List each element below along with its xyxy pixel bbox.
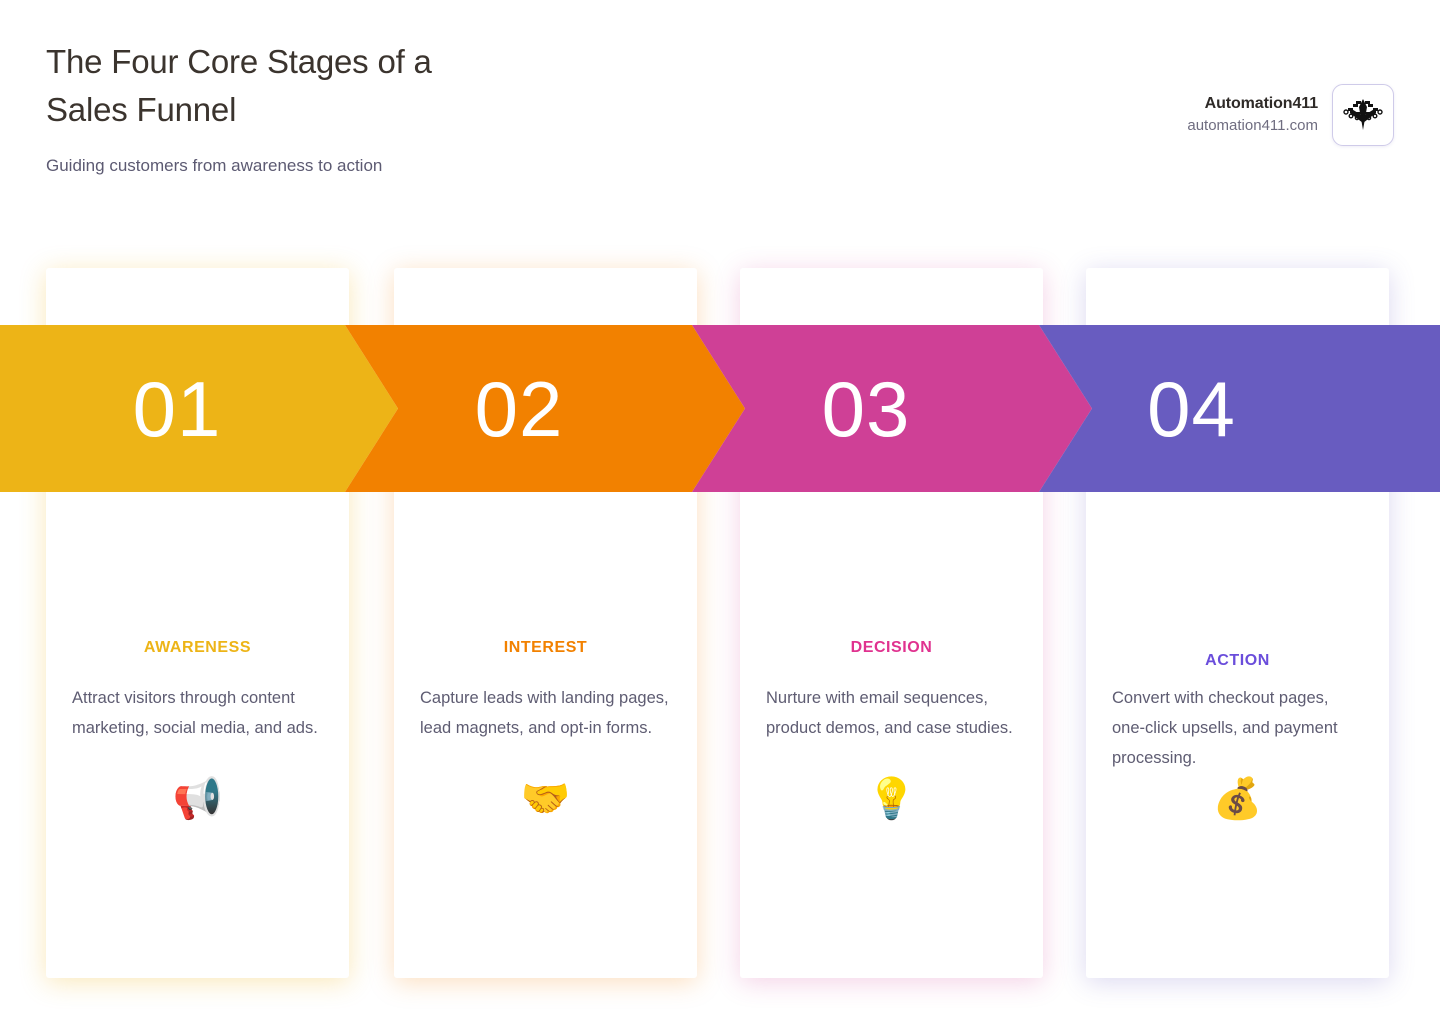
stage-number-02: 02 bbox=[475, 370, 564, 448]
money-bag-icon: 💰 bbox=[1086, 773, 1389, 825]
ribbon-segment-04[interactable]: 04 bbox=[1039, 325, 1440, 492]
ribbon-segment-02[interactable]: 02 bbox=[345, 325, 745, 492]
ribbon-segment-03[interactable]: 03 bbox=[692, 325, 1092, 492]
stage-number-03: 03 bbox=[822, 370, 911, 448]
stage-description-action: Convert with checkout pages, one-click u… bbox=[1112, 683, 1364, 773]
handshake-icon: 🤝 bbox=[394, 773, 697, 825]
stage-number-04: 04 bbox=[1147, 370, 1236, 448]
ribbon-segment-01[interactable]: 01 bbox=[0, 325, 398, 492]
stage-cards: 📢 AWARENESS Attract visitors through con… bbox=[0, 0, 1440, 1024]
loudspeaker-icon: 📢 bbox=[46, 773, 349, 825]
stage-description-awareness: Attract visitors through content marketi… bbox=[72, 683, 324, 743]
lightbulb-icon: 💡 bbox=[740, 773, 1043, 825]
stage-label-interest: INTEREST bbox=[394, 639, 697, 657]
stage-label-awareness: AWARENESS bbox=[46, 639, 349, 657]
stage-label-decision: DECISION bbox=[740, 639, 1043, 657]
stage-number-01: 01 bbox=[133, 370, 222, 448]
stage-label-action: ACTION bbox=[1086, 652, 1389, 670]
stage-ribbon: 01 02 03 04 bbox=[0, 325, 1440, 492]
stage-description-decision: Nurture with email sequences, product de… bbox=[766, 683, 1018, 743]
stage-description-interest: Capture leads with landing pages, lead m… bbox=[420, 683, 672, 743]
infographic-page: The Four Core Stages of aSales Funnel Gu… bbox=[0, 0, 1440, 1024]
